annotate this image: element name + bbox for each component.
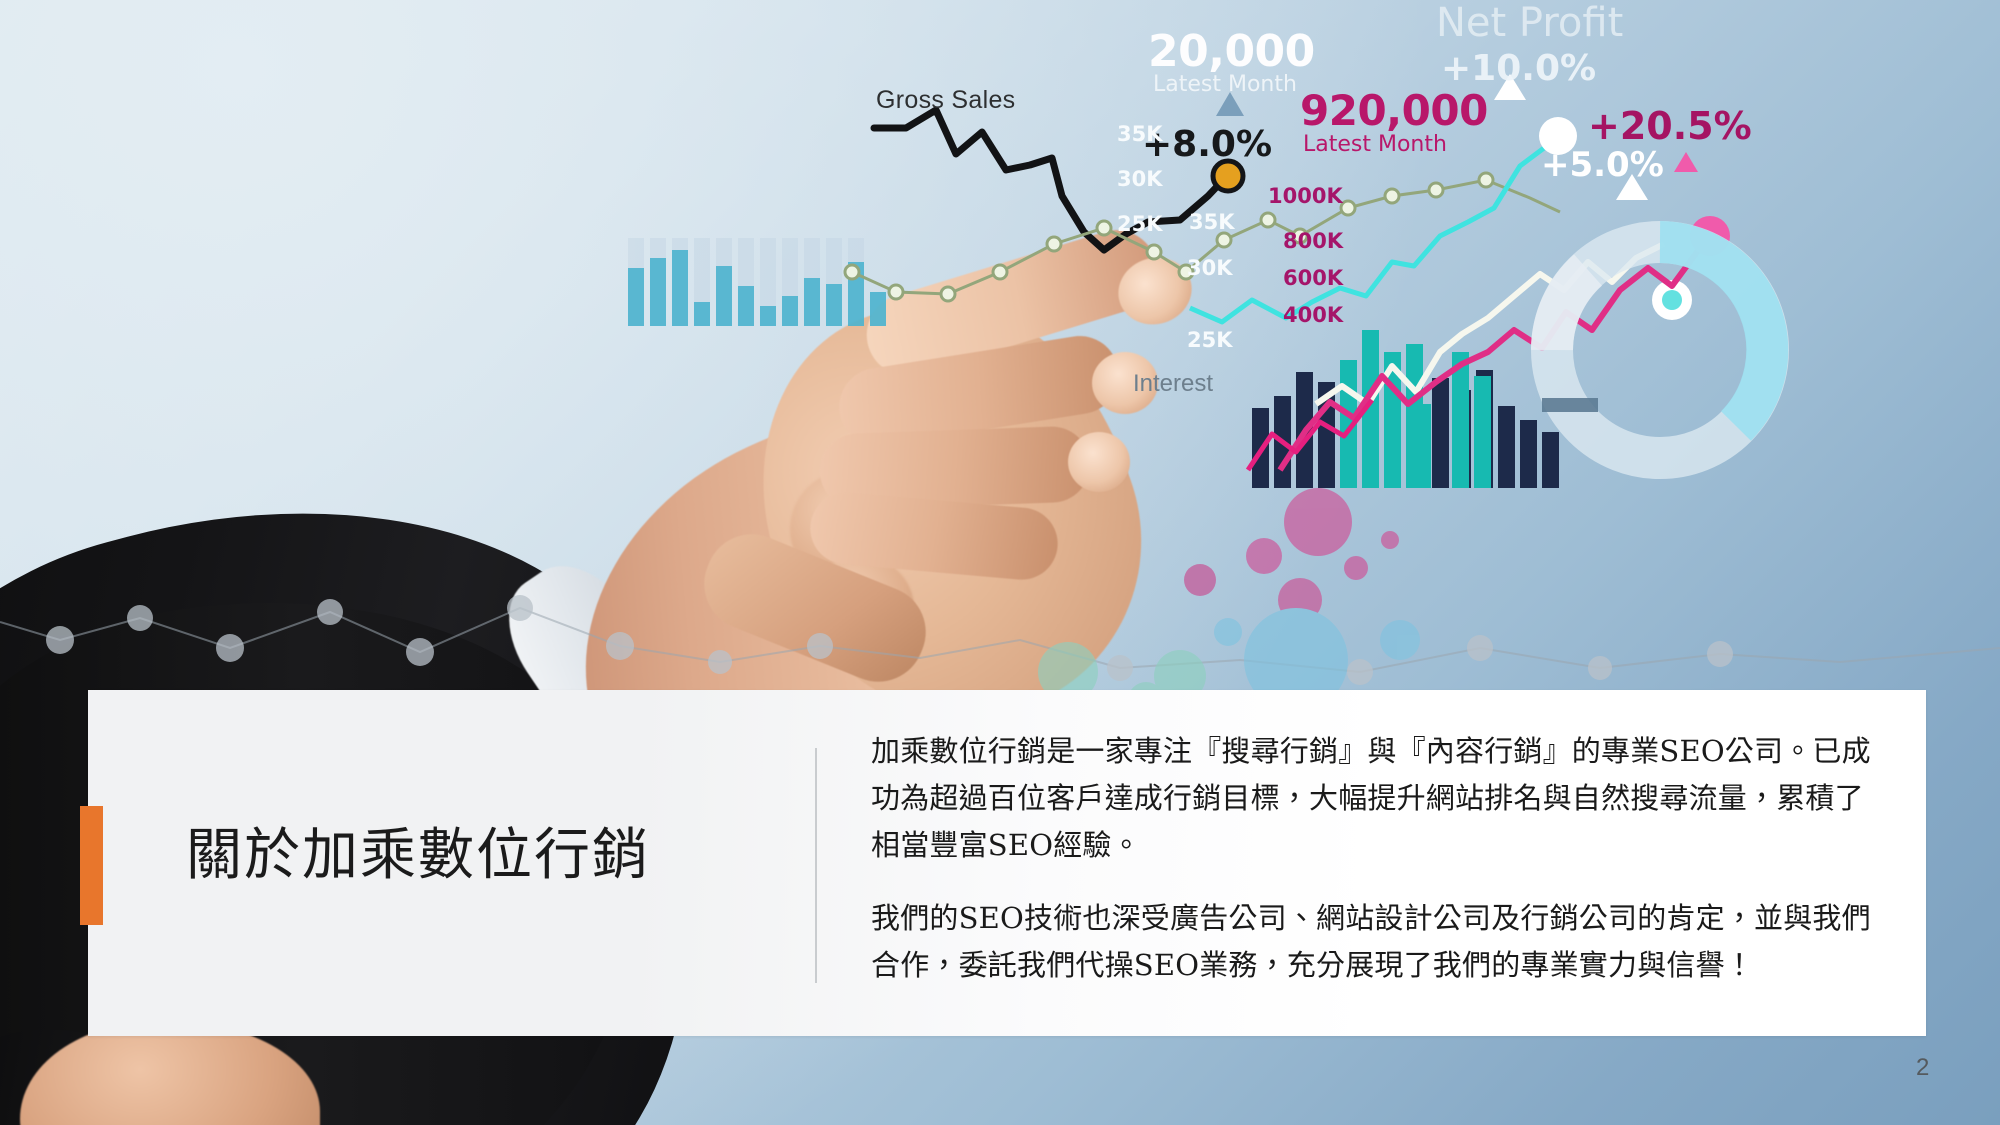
axis-right-tick-400k: 400K [1283, 303, 1343, 327]
revenue-caption: Latest Month [1303, 132, 1447, 157]
content-card: 關於加乘數位行銷 加乘數位行銷是一家專注『搜尋行銷』與『內容行銷』的專業SEO公… [88, 690, 1926, 1036]
axis-right-tick-1000k: 1000K [1268, 184, 1343, 208]
slide-canvas: Gross Sales Interest 20,000 Latest Month… [0, 0, 2000, 1125]
interest-label: Interest [1133, 370, 1213, 398]
axis-mid-tick-30k: 30K [1187, 256, 1233, 280]
axis-right-tick-600k: 600K [1283, 266, 1343, 290]
latest-month-caption: Latest Month [1153, 72, 1297, 97]
triangle-up-icon [1674, 152, 1698, 172]
revenue-value: 920,000 [1300, 86, 1488, 135]
accent-bar [80, 806, 103, 925]
small-growth-value: +5.0% [1541, 145, 1664, 185]
axis-mid-tick-35k: 35K [1189, 210, 1235, 234]
body-text-column: 加乘數位行銷是一家專注『搜尋行銷』與『內容行銷』的專業SEO公司。已成功為超過百… [871, 728, 1871, 989]
body-paragraph-1: 加乘數位行銷是一家專注『搜尋行銷』與『內容行銷』的專業SEO公司。已成功為超過百… [871, 728, 1871, 869]
page-title: 關於加乘數位行銷 [186, 825, 786, 887]
axis-left-tick-25k: 25K [1117, 212, 1163, 236]
net-profit-growth-value: +10.0% [1441, 48, 1596, 89]
axis-left-tick-35k: 35K [1117, 122, 1163, 146]
revenue-growth-value: +20.5% [1588, 104, 1752, 148]
axis-left-tick-30k: 30K [1117, 167, 1163, 191]
axis-right-tick-800k: 800K [1283, 229, 1343, 253]
gold-data-point [1213, 161, 1243, 191]
gross-sales-label: Gross Sales [876, 86, 1015, 115]
body-paragraph-2: 我們的SEO技術也深受廣告公司、網站設計公司及行銷公司的肯定，並與我們合作，委託… [871, 895, 1871, 989]
vertical-divider [815, 748, 817, 983]
latest-month-value: 20,000 [1148, 26, 1315, 77]
net-profit-label: Net Profit [1436, 0, 1623, 46]
axis-mid-tick-25k: 25K [1187, 328, 1233, 352]
page-number: 2 [1916, 1054, 1929, 1082]
